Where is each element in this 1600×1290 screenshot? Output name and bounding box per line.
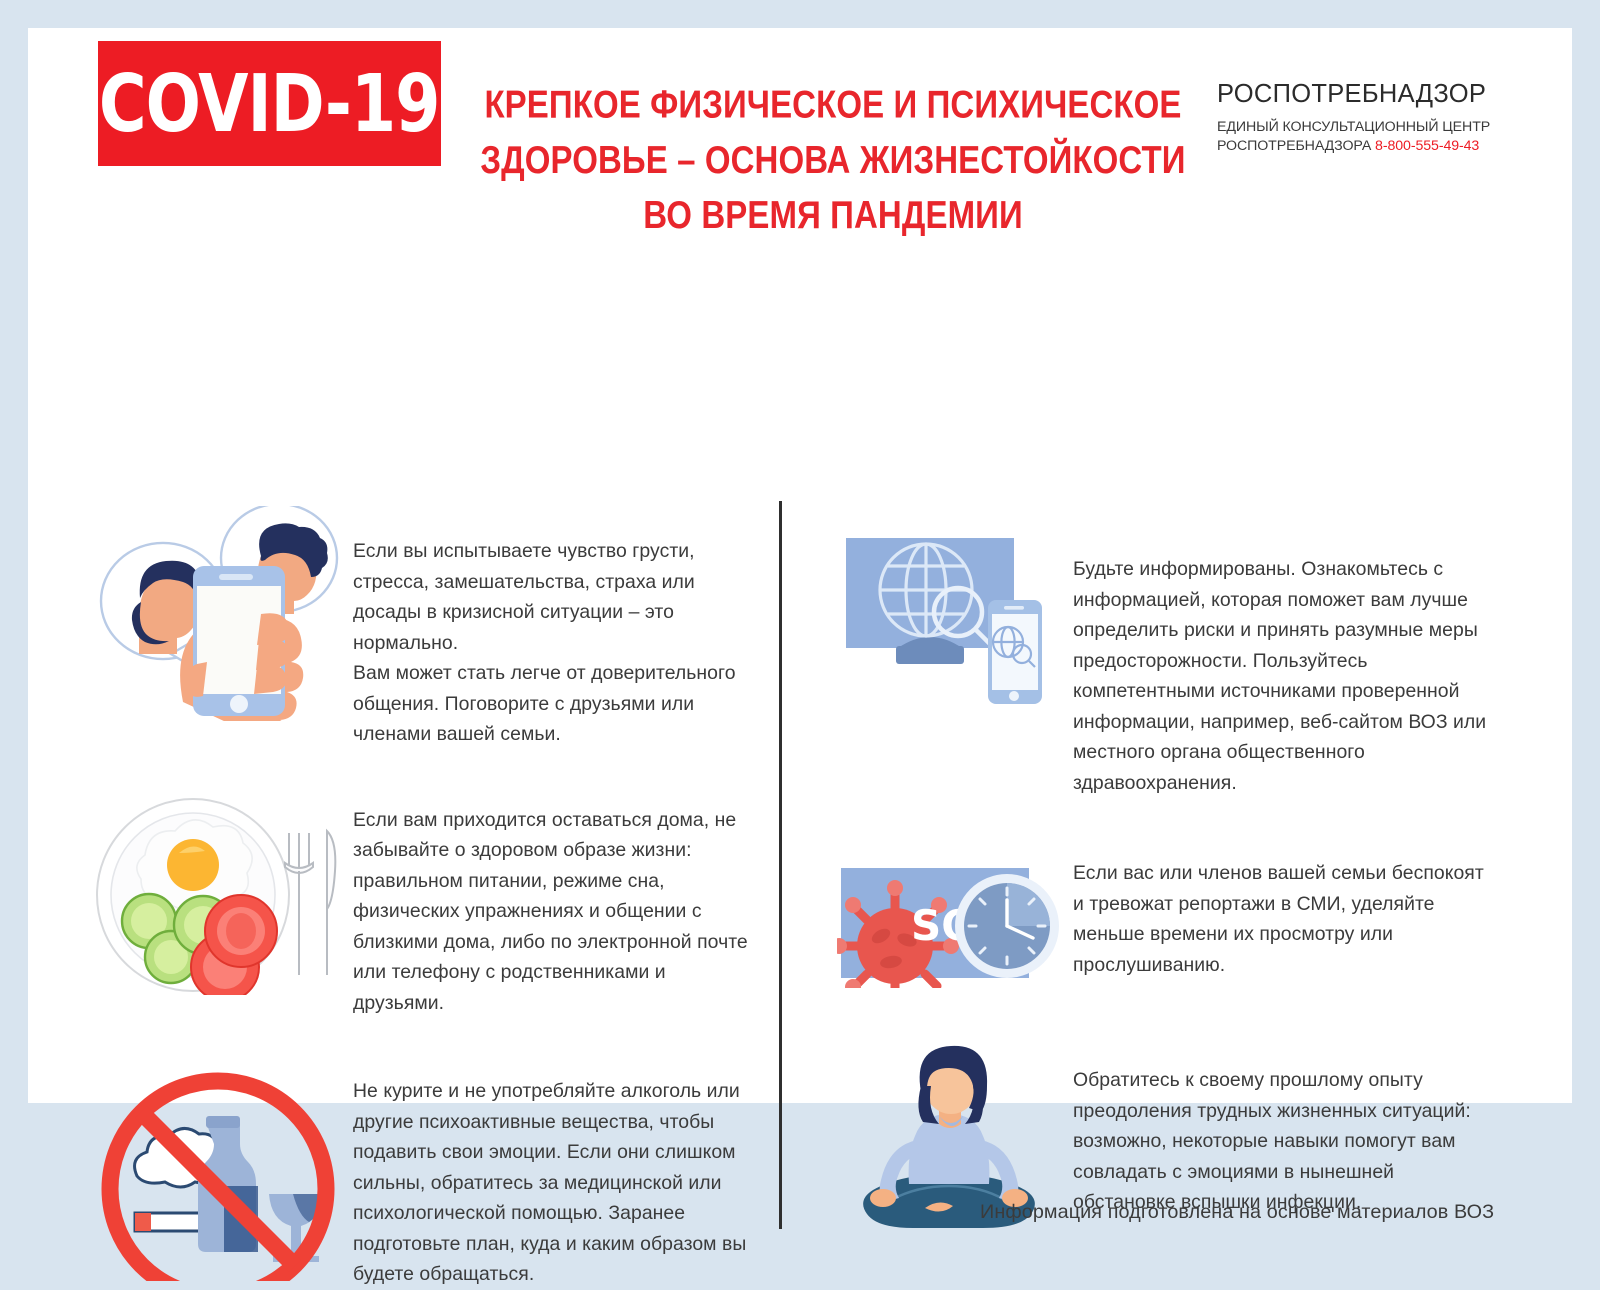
advice-block: SOS xyxy=(823,858,1523,988)
page-title-line-1: КРЕПКОЕ ФИЗИЧЕСКОЕ И ПСИХИЧЕСКОЕ xyxy=(468,76,1198,131)
footer-note: Информация подготовлена на основе матери… xyxy=(823,1201,1523,1224)
brand-subtitle-line-2-text: РОСПОТРЕБНАДЗОРА xyxy=(1217,138,1371,154)
advice-paragraph: Если вам приходится оставаться дома, не … xyxy=(353,805,753,1019)
advice-paragraph: Будьте информированы. Ознакомьтесь с инф… xyxy=(1073,554,1493,798)
brand-name: РОСПОТРЕБНАДЗОР xyxy=(1217,80,1507,109)
rospotrebnadzor-brand: РОСПОТРЕБНАДЗОР ЕДИНЫЙ КОНСУЛЬТАЦИОННЫЙ … xyxy=(1217,80,1507,155)
advice-paragraph: Если вы испытываете чувство грусти, стре… xyxy=(353,536,753,658)
column-divider xyxy=(779,501,782,1229)
brand-subtitle-line-1: ЕДИНЫЙ КОНСУЛЬТАЦИОННЫЙ ЦЕНТР xyxy=(1217,118,1507,137)
hotline-phone-number[interactable]: 8-800-555-49-43 xyxy=(1375,138,1479,154)
advice-paragraph: Если вас или членов вашей семьи беспокоя… xyxy=(1073,858,1493,980)
monitor-globe-search-icon xyxy=(823,516,1073,798)
advice-text: Не курите и не употребляйте алкоголь или… xyxy=(353,1066,753,1290)
advice-text: Если вам приходится оставаться дома, не … xyxy=(353,795,753,1019)
covid-19-badge-label: COVID-19 xyxy=(99,57,439,150)
advice-text: Если вас или членов вашей семьи беспокоя… xyxy=(1073,858,1493,988)
poster-header: COVID-19 КРЕПКОЕ ФИЗИЧЕСКОЕ И ПСИХИЧЕСКО… xyxy=(28,28,1572,233)
left-column: Если вы испытываете чувство грусти, стре… xyxy=(83,488,773,1290)
right-column: Будьте информированы. Ознакомьтесь с инф… xyxy=(823,488,1523,1230)
advice-paragraph: Не курите и не употребляйте алкоголь или… xyxy=(353,1076,753,1290)
brand-subtitle-line-2: РОСПОТРЕБНАДЗОРА 8-800-555-49-43 xyxy=(1217,137,1507,156)
covid-19-badge: COVID-19 xyxy=(98,41,441,166)
brand-subtitle: ЕДИНЫЙ КОНСУЛЬТАЦИОННЫЙ ЦЕНТР РОСПОТРЕБН… xyxy=(1217,118,1507,155)
page-title-line-2: ЗДОРОВЬЕ – ОСНОВА ЖИЗНЕСТОЙКОСТИ xyxy=(468,131,1198,186)
hand-phone-chat-icon xyxy=(83,506,353,750)
advice-block: Будьте информированы. Ознакомьтесь с инф… xyxy=(823,516,1523,798)
advice-block: Не курите и не употребляйте алкоголь или… xyxy=(83,1066,773,1290)
advice-text: Если вы испытываете чувство грусти, стре… xyxy=(353,506,753,750)
advice-block: Если вы испытываете чувство грусти, стре… xyxy=(83,506,773,750)
healthy-food-plate-icon xyxy=(83,795,353,1019)
poster-canvas: COVID-19 КРЕПКОЕ ФИЗИЧЕСКОЕ И ПСИХИЧЕСКО… xyxy=(28,28,1572,1103)
advice-paragraph: Вам может стать легче от доверительного … xyxy=(353,658,753,750)
sos-virus-clock-icon: SOS xyxy=(823,858,1073,988)
advice-text: Будьте информированы. Ознакомьтесь с инф… xyxy=(1073,516,1493,798)
no-smoking-no-alcohol-icon xyxy=(83,1066,353,1290)
advice-block: Если вам приходится оставаться дома, не … xyxy=(83,795,773,1019)
page-title: КРЕПКОЕ ФИЗИЧЕСКОЕ И ПСИХИЧЕСКОЕ ЗДОРОВЬ… xyxy=(468,76,1198,242)
advice-paragraph: Обратитесь к своему прошлому опыту преод… xyxy=(1073,1065,1493,1218)
page-title-line-3: ВО ВРЕМЯ ПАНДЕМИИ xyxy=(468,187,1198,242)
